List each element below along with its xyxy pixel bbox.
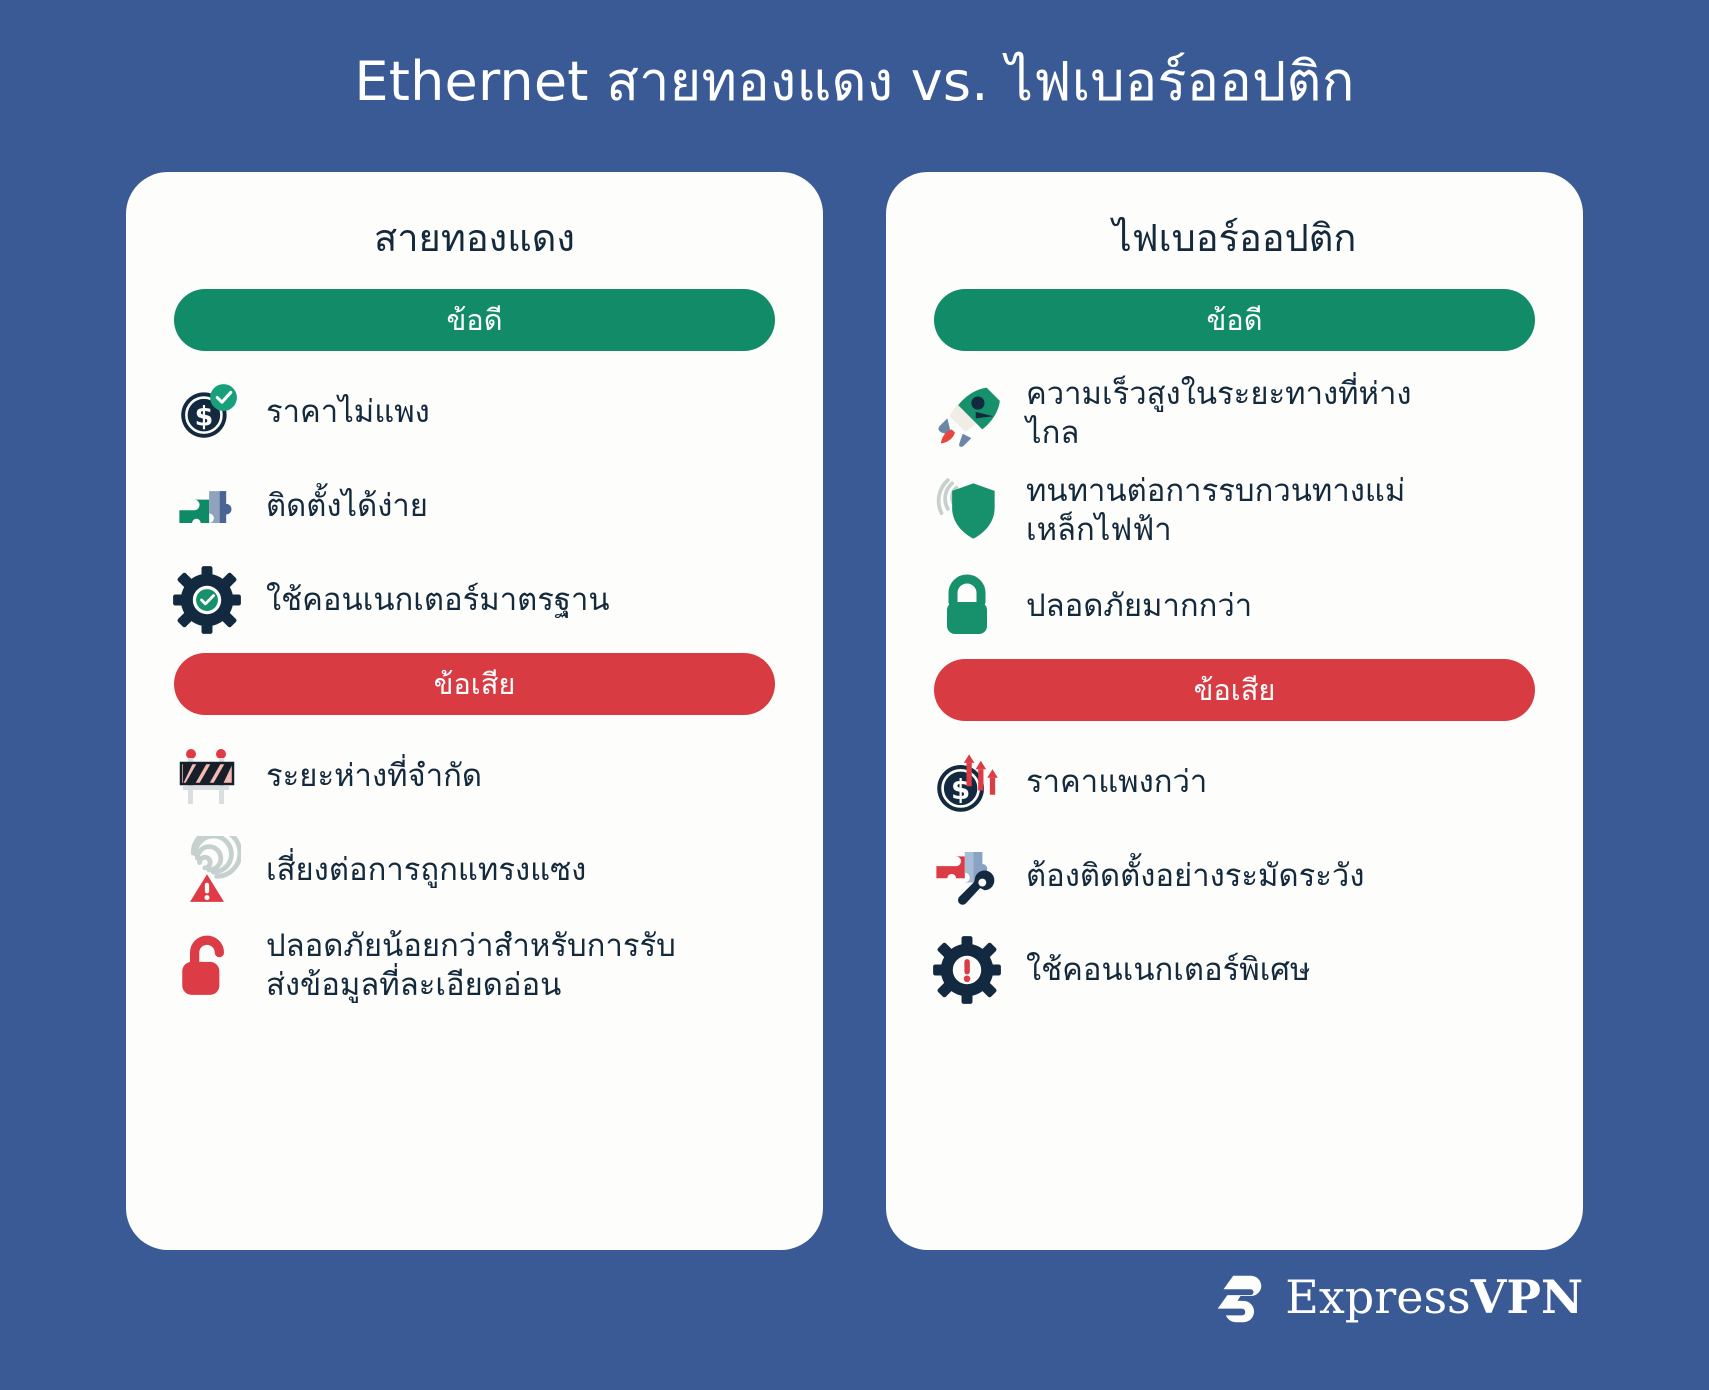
puzzle-pieces-icon — [170, 469, 244, 543]
signal-spiral-warning-icon — [170, 833, 244, 907]
comparison-cards: สายทองแดง ข้อดี $ ราคาไม่แพง — [126, 172, 1583, 1250]
list-item-label: ใช้คอนเนกเตอร์มาตรฐาน — [266, 581, 610, 619]
cons-badge: ข้อเสีย — [934, 659, 1535, 721]
road-barrier-icon — [170, 739, 244, 813]
list-item-label: ต้องติดตั้งอย่างระมัดระวัง — [1026, 857, 1364, 895]
expressvpn-mark-icon — [1209, 1266, 1271, 1328]
card-fiber: ไฟเบอร์ออปติก ข้อดี — [886, 172, 1583, 1250]
list-item: ระยะห่างที่จำกัด — [170, 729, 779, 823]
coin-dollar-check-icon: $ — [170, 375, 244, 449]
list-item-label: ปลอดภัยมากกว่า — [1026, 587, 1252, 625]
list-item: ปลอดภัยมากกว่า — [930, 559, 1539, 653]
card-spacer — [930, 1017, 1539, 1210]
locked-padlock-icon — [930, 569, 1004, 643]
list-item: ความเร็วสูงในระยะทางที่ห่างไกล — [930, 365, 1539, 462]
svg-text:$: $ — [195, 402, 214, 433]
cons-badge: ข้อเสีย — [174, 653, 775, 715]
card-copper: สายทองแดง ข้อดี $ ราคาไม่แพง — [126, 172, 823, 1250]
list-item-label: ติดตั้งได้ง่าย — [266, 487, 428, 525]
brand-secondary: VPN — [1471, 1274, 1583, 1320]
shield-signal-icon — [930, 474, 1004, 548]
list-item-label: ราคาแพงกว่า — [1026, 763, 1207, 801]
gear-check-icon — [170, 563, 244, 637]
page-title: Ethernet สายทองแดง vs. ไฟเบอร์ออปติก — [0, 48, 1709, 116]
puzzle-wrench-icon — [930, 839, 1004, 913]
list-item: ทนทานต่อการรบกวนทางแม่เหล็กไฟฟ้า — [930, 462, 1539, 559]
pros-list: ความเร็วสูงในระยะทางที่ห่างไกล — [930, 365, 1539, 653]
pros-list: $ ราคาไม่แพง ต — [170, 365, 779, 647]
list-item: $ ราคาแพงกว่า — [930, 735, 1539, 829]
expressvpn-wordmark: ExpressVPN — [1285, 1274, 1583, 1320]
expressvpn-logo: ExpressVPN — [1209, 1266, 1583, 1328]
list-item: $ ราคาไม่แพง — [170, 365, 779, 459]
list-item-label: ราคาไม่แพง — [266, 393, 430, 431]
cons-list: ระยะห่างที่จำกัด — [170, 729, 779, 1014]
list-item: เสี่ยงต่อการถูกแทรงแซง — [170, 823, 779, 917]
list-item: ติดตั้งได้ง่าย — [170, 459, 779, 553]
card-spacer — [170, 1014, 779, 1210]
card-title: สายทองแดง — [170, 214, 779, 263]
rocket-icon — [930, 377, 1004, 451]
list-item: ใช้คอนเนกเตอร์มาตรฐาน — [170, 553, 779, 647]
list-item-label: ใช้คอนเนกเตอร์พิเศษ — [1026, 951, 1310, 989]
infographic-page: Ethernet สายทองแดง vs. ไฟเบอร์ออปติก สาย… — [0, 0, 1709, 1390]
list-item-label: ทนทานต่อการรบกวนทางแม่เหล็กไฟฟ้า — [1026, 472, 1446, 549]
brand-primary: Express — [1285, 1274, 1470, 1320]
gear-exclamation-icon — [930, 933, 1004, 1007]
pros-badge: ข้อดี — [934, 289, 1535, 351]
list-item-label: ความเร็วสูงในระยะทางที่ห่างไกล — [1026, 375, 1446, 452]
list-item: ปลอดภัยน้อยกว่าสำหรับการรับส่งข้อมูลที่ล… — [170, 917, 779, 1014]
coin-dollar-arrows-up-icon: $ — [930, 745, 1004, 819]
list-item-label: ปลอดภัยน้อยกว่าสำหรับการรับส่งข้อมูลที่ล… — [266, 927, 686, 1004]
list-item-label: ระยะห่างที่จำกัด — [266, 757, 482, 795]
list-item-label: เสี่ยงต่อการถูกแทรงแซง — [266, 851, 586, 889]
card-title: ไฟเบอร์ออปติก — [930, 214, 1539, 263]
unlocked-padlock-icon — [170, 929, 244, 1003]
pros-badge: ข้อดี — [174, 289, 775, 351]
list-item: ใช้คอนเนกเตอร์พิเศษ — [930, 923, 1539, 1017]
list-item: ต้องติดตั้งอย่างระมัดระวัง — [930, 829, 1539, 923]
cons-list: $ ราคาแพงกว่า — [930, 735, 1539, 1017]
